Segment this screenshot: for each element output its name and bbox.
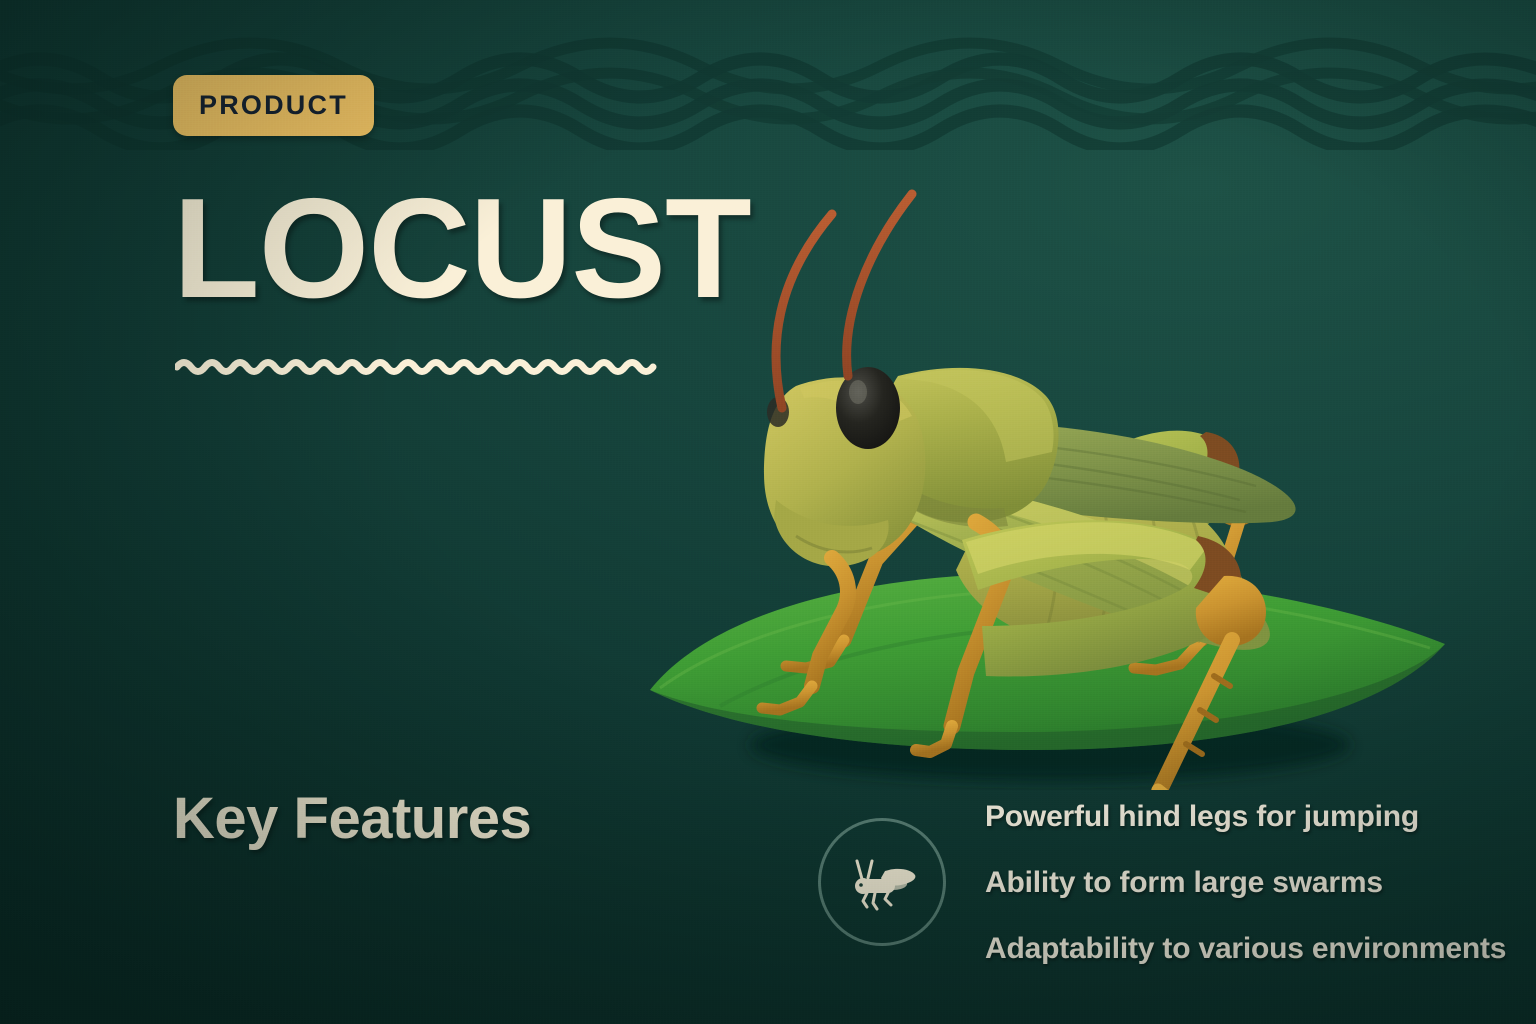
title-underline-squiggle: [175, 352, 659, 382]
locust-illustration: [600, 170, 1500, 790]
feature-item-3: Adaptability to various environments: [985, 932, 1515, 966]
poster-canvas: PRODUCT LOCUST: [0, 0, 1536, 1024]
key-features-heading: Key Features: [173, 785, 531, 852]
locust-icon: [841, 841, 923, 923]
antennae: [776, 194, 912, 408]
product-badge-label: PRODUCT: [199, 90, 348, 121]
product-badge[interactable]: PRODUCT: [173, 75, 374, 136]
feature-item-1: Powerful hind legs for jumping: [985, 800, 1515, 834]
key-features-list: Powerful hind legs for jumping Ability t…: [985, 800, 1515, 966]
locust-icon-badge: [818, 818, 946, 946]
feature-item-2: Ability to form large swarms: [985, 866, 1515, 900]
